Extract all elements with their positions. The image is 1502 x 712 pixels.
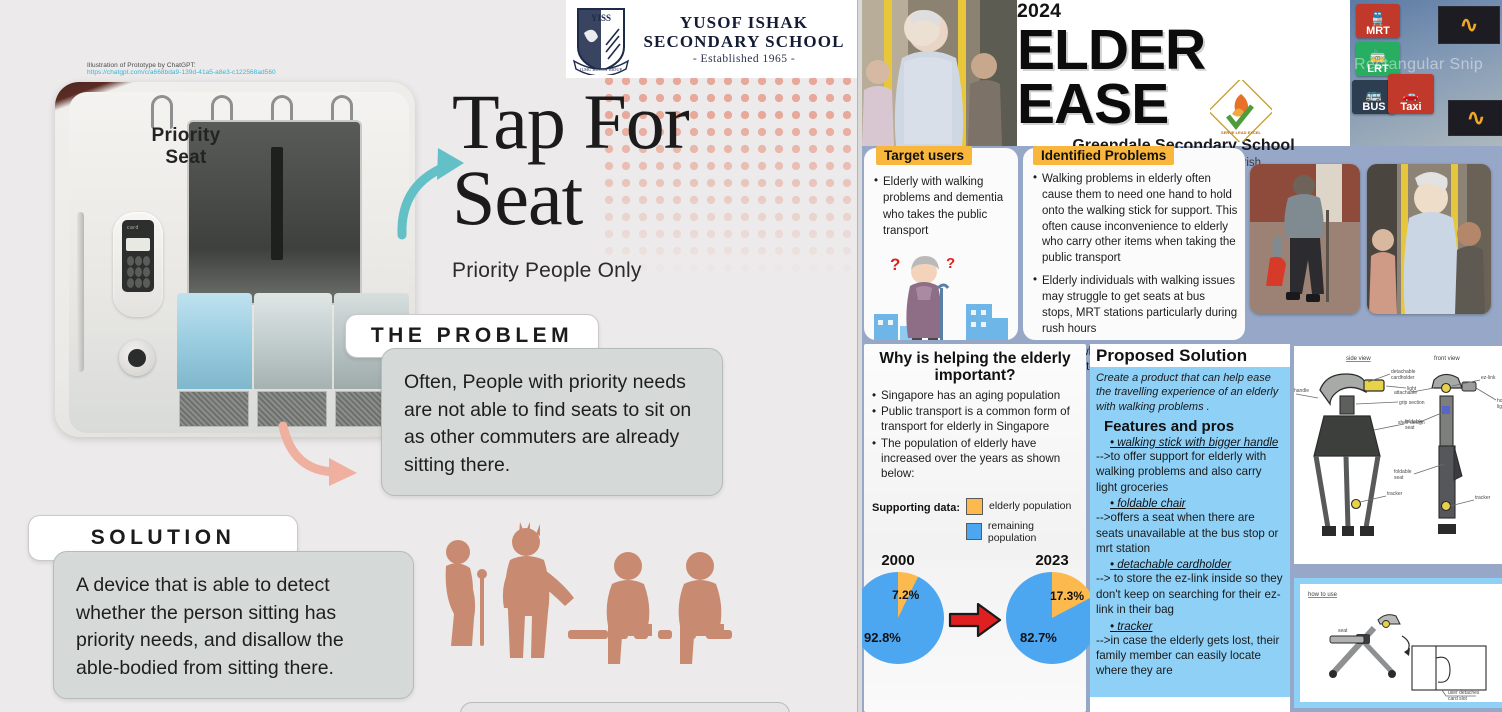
how-to-use-drawing: how to use: [1300, 584, 1502, 702]
emergency-button-icon[interactable]: [119, 340, 155, 376]
solution-row: Why is helping the elderly important? Si…: [862, 344, 1502, 712]
svg-text:light groceries: light groceries: [1497, 404, 1502, 410]
elderly-man-with-cane-photo: [1250, 164, 1360, 314]
smrt-logo-icon: ∿: [1438, 6, 1500, 44]
floor-grill: [179, 391, 249, 427]
svg-text:handle: handle: [1294, 388, 1309, 394]
list-item: Walking problems in elderly often cause …: [1033, 172, 1238, 267]
left-poster-tap-for-seat: YISS ILMU BULUH HIDUP YUSOF ISHAK SECOND…: [0, 0, 861, 712]
pie-2023-remaining-value: 82.7%: [1020, 630, 1057, 645]
train-vertical-rail: [77, 212, 84, 372]
legend-entry-elderly: elderly population: [966, 498, 1078, 515]
train-interior: Priority Seat card: [69, 92, 409, 433]
school-name-line2: SECONDARY SCHOOL: [632, 32, 856, 51]
chart-legend: Supporting data: elderly population rema…: [872, 498, 1078, 549]
svg-text:how to use: how to use: [1308, 592, 1338, 598]
headline-subtitle: Priority People Only: [452, 259, 752, 283]
card-tap-panel[interactable]: card: [113, 212, 163, 317]
people-pictogram-illustration: [418, 520, 748, 670]
yusof-ishak-school-header: YISS ILMU BULUH HIDUP YUSOF ISHAK SECOND…: [566, 0, 861, 78]
svg-text:SERVE LEAD EXCEL: SERVE LEAD EXCEL: [1221, 130, 1261, 135]
svg-text:?: ?: [946, 255, 955, 272]
svg-text:ez-link: ez-link: [1481, 375, 1496, 381]
hand-grip-icon: [151, 95, 173, 129]
bus-icon: 🚌: [1366, 88, 1382, 101]
project-title: ELDER EASE: [1017, 23, 1350, 131]
feature-detail-tracker: -->in case the elderly gets lost, their …: [1096, 633, 1284, 679]
identified-problems-card: Identified Problems Walking problems in …: [1023, 148, 1245, 340]
pie-2023-graphic: 17.3% 82.7%: [1006, 572, 1098, 664]
priority-seat-label: Priority Seat: [131, 125, 241, 169]
target-users-list: Elderly with walking problems and dement…: [874, 174, 1010, 246]
salmon-curved-arrow-icon: [275, 420, 370, 490]
svg-text:tracker: tracker: [1387, 491, 1403, 497]
the-problem-text-box: Often, People with priority needs are no…: [381, 348, 723, 496]
proposed-solution-card: Proposed Solution Create a product that …: [1090, 344, 1290, 712]
list-item: Public transport is a common form of tra…: [872, 404, 1078, 435]
svg-text:grip section: grip section: [1399, 400, 1425, 406]
screenshot-stage: YISS ILMU BULUH HIDUP YUSOF ISHAK SECOND…: [0, 0, 1502, 712]
prototype-caption: Illustration of Prototype by ChatGPT: ht…: [87, 62, 387, 76]
feature-detail-cardholder: --> to store the ez-link inside so they …: [1096, 571, 1284, 617]
how-to-use-panel: how to use: [1294, 578, 1502, 708]
card-reader-label: card: [127, 225, 139, 231]
features-heading: Features and pros: [1104, 418, 1284, 435]
list-item: The population of elderly have increased…: [872, 436, 1078, 482]
svg-text:tracker: tracker: [1475, 495, 1491, 501]
feature-name-walking-stick: walking stick with bigger handle: [1110, 437, 1284, 449]
school-established: - Established 1965 -: [632, 53, 856, 66]
proposed-solution-title: Proposed Solution: [1090, 344, 1290, 367]
elderly-woman-illustration: ? ?: [872, 252, 1010, 340]
headline-line1: Tap For: [452, 84, 752, 160]
why-section-title: Why is helping the elderly important?: [872, 350, 1078, 385]
solution-text-box: A device that is able to detect whether …: [53, 551, 414, 699]
card-reader-screen: [126, 238, 150, 251]
target-users-card: Target users Elderly with walking proble…: [864, 148, 1018, 340]
list-item: Elderly individuals with walking issues …: [1033, 274, 1238, 337]
proposed-solution-body: Create a product that can help ease the …: [1090, 367, 1290, 697]
problem-analysis-row: Target users Elderly with walking proble…: [862, 148, 1502, 340]
elder-ease-header: SIT COMMUNITY CHALLENGE 2024 ELDER EASE …: [862, 0, 1502, 146]
title-block: SIT COMMUNITY CHALLENGE 2024 ELDER EASE …: [1017, 0, 1350, 146]
red-arrow-icon: [948, 600, 1002, 640]
smrt-logo-icon: ∿: [1448, 100, 1502, 136]
pie-2000-graphic: 7.2% 92.8%: [862, 572, 944, 664]
mrt-priority-seat-prototype-image: Priority Seat card: [55, 82, 415, 437]
svg-text:YISS: YISS: [591, 13, 611, 23]
card-reader-keypad[interactable]: [127, 256, 150, 288]
feature-detail-walking-stick: -->to offer support for elderly with wal…: [1096, 449, 1284, 495]
svg-text:?: ?: [890, 255, 900, 274]
partially-visible-box-below: [460, 702, 790, 712]
legend-swatch-remaining: [966, 523, 982, 540]
prototype-caption-url[interactable]: https://chatgpt.com/c/a668bda9-139d-41a5…: [87, 69, 387, 76]
pie-charts-group: 2000 7.2% 92.8% 2023: [864, 552, 1086, 664]
target-users-tab: Target users: [876, 146, 972, 165]
legend-swatch-elderly: [966, 498, 983, 515]
problem-photos: [1250, 148, 1500, 340]
legend-label-remaining: remaining population: [988, 520, 1078, 544]
greendale-school-logo-icon: SERVE LEAD EXCEL: [1210, 80, 1272, 142]
pie-chart-2000: 2000 7.2% 92.8%: [862, 552, 944, 664]
list-item: Elderly with walking problems and dement…: [874, 174, 1010, 239]
train-seat-blue: [177, 293, 252, 389]
transport-signs-photo: 🚆 MRT 🚋 LRT 🚌 BUS 🚗 Taxi ∿ ∿ Rectangula: [1350, 0, 1502, 146]
feature-name-foldable-chair: foldable chair: [1110, 498, 1284, 510]
train-icon: 🚆: [1370, 12, 1386, 25]
svg-text:cardholder: cardholder: [1391, 375, 1415, 381]
right-poster-elder-ease: SIT COMMUNITY CHALLENGE 2024 ELDER EASE …: [862, 0, 1502, 712]
elderly-man-in-bus-photo: [862, 0, 1017, 146]
feature-name-cardholder: detachable cardholder: [1110, 559, 1284, 571]
svg-text:ILMU BULUH HIDUP: ILMU BULUH HIDUP: [580, 67, 623, 72]
pie-year-label: 2023: [1006, 552, 1098, 569]
feature-name-tracker: tracker: [1110, 621, 1284, 633]
svg-text:seat: seat: [1338, 628, 1348, 634]
legend-label-elderly: elderly population: [989, 500, 1071, 512]
supporting-data-label: Supporting data:: [872, 498, 960, 514]
identified-problems-tab: Identified Problems: [1033, 146, 1174, 165]
feature-detail-foldable-chair: -->offers a seat when there are seats un…: [1096, 510, 1284, 556]
snip-watermark: Rectangular Snip: [1354, 56, 1483, 74]
product-drawings-column: side view front view: [1294, 344, 1500, 712]
svg-text:seat: seat: [1394, 475, 1404, 481]
legend-entry-remaining: remaining population: [966, 520, 1078, 544]
mrt-sign: 🚆 MRT: [1356, 4, 1400, 38]
project-title-wrap: ELDER EASE: [1017, 23, 1350, 131]
svg-text:shelf design: shelf design: [1398, 420, 1425, 426]
yiss-crest-icon: YISS ILMU BULUH HIDUP: [570, 3, 632, 75]
svg-text:card slot: card slot: [1448, 696, 1468, 702]
train-seat-grey: [254, 293, 332, 389]
pie-2000-remaining-value: 92.8%: [864, 630, 901, 645]
svg-text:attachable: attachable: [1394, 390, 1417, 396]
svg-text:front view: front view: [1434, 356, 1460, 362]
pie-year-label: 2000: [862, 552, 944, 569]
list-item: Singapore has an aging population: [872, 388, 1078, 403]
proposed-solution-intro: Create a product that can help ease the …: [1096, 371, 1284, 414]
walking-stick-technical-drawing: side view front view: [1294, 346, 1502, 564]
headline-line2: Seat: [452, 160, 752, 236]
why-helping-elderly-card: Why is helping the elderly important? Si…: [864, 344, 1086, 712]
taxi-sign: 🚗 Taxi: [1388, 74, 1434, 114]
pie-2000-elderly-value: 7.2%: [892, 588, 919, 602]
svg-text:side view: side view: [1346, 356, 1371, 362]
school-name-block: YUSOF ISHAK SECONDARY SCHOOL - Establish…: [632, 13, 856, 66]
elderly-in-bus-photo: [1367, 164, 1491, 314]
card-reader-device[interactable]: card: [122, 220, 154, 292]
taxi-icon: 🚗: [1403, 88, 1419, 101]
poster-headline: Tap For Seat Priority People Only: [452, 84, 752, 283]
pie-2023-elderly-value: 17.3%: [1050, 589, 1084, 603]
why-section-list: Singapore has an aging population Public…: [872, 388, 1078, 482]
prototype-caption-label: Illustration of Prototype by ChatGPT:: [87, 62, 387, 69]
pie-chart-2023: 2023 17.3% 82.7%: [1006, 552, 1098, 664]
school-name-line1: YUSOF ISHAK: [632, 13, 856, 32]
